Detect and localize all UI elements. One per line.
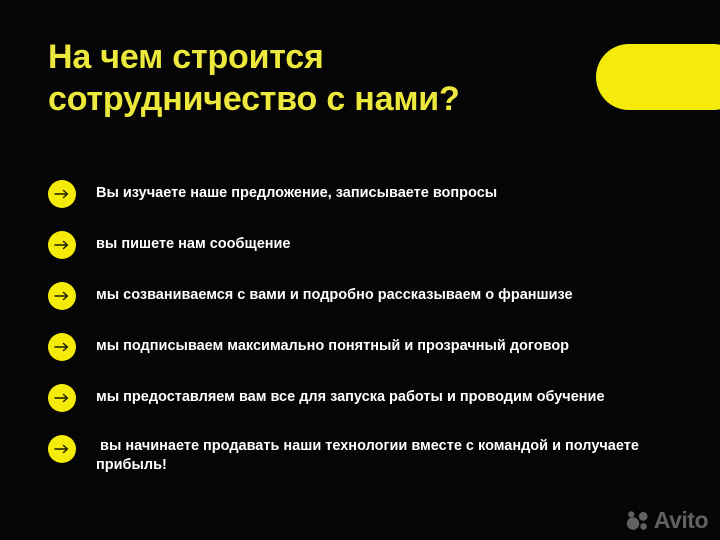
arrow-right-icon <box>48 435 76 463</box>
page-title-line-1: На чем строится <box>48 36 548 78</box>
list-item: мы подписываем максимально понятный и пр… <box>48 333 708 361</box>
arrow-right-icon <box>48 282 76 310</box>
list-item-label: мы предоставляем вам все для запуска раб… <box>96 384 605 407</box>
avito-watermark: Avito <box>625 509 708 532</box>
list-item-label: Вы изучаете наше предложение, записывает… <box>96 180 497 203</box>
slide-canvas: На чем строится сотрудничество с нами? В… <box>0 0 720 540</box>
arrow-right-icon <box>48 231 76 259</box>
steps-list: Вы изучаете наше предложение, записывает… <box>48 180 708 475</box>
list-item-label: мы подписываем максимально понятный и пр… <box>96 333 569 356</box>
list-item-label: мы созваниваемся с вами и подробно расск… <box>96 282 573 305</box>
avito-logo-icon <box>625 511 649 531</box>
page-title-line-2: сотрудничество с нами? <box>48 78 548 120</box>
list-item-label: вы начинаете продавать наши технологии в… <box>96 435 708 475</box>
decorative-pill-shape <box>596 44 720 110</box>
list-item: мы предоставляем вам все для запуска раб… <box>48 384 708 412</box>
arrow-right-icon <box>48 384 76 412</box>
list-item: вы начинаете продавать наши технологии в… <box>48 435 708 475</box>
list-item: Вы изучаете наше предложение, записывает… <box>48 180 708 208</box>
list-item: мы созваниваемся с вами и подробно расск… <box>48 282 708 310</box>
list-item: вы пишете нам сообщение <box>48 231 708 259</box>
arrow-right-icon <box>48 333 76 361</box>
list-item-label: вы пишете нам сообщение <box>96 231 291 254</box>
avito-wordmark: Avito <box>654 509 708 532</box>
page-title: На чем строится сотрудничество с нами? <box>48 36 548 120</box>
arrow-right-icon <box>48 180 76 208</box>
